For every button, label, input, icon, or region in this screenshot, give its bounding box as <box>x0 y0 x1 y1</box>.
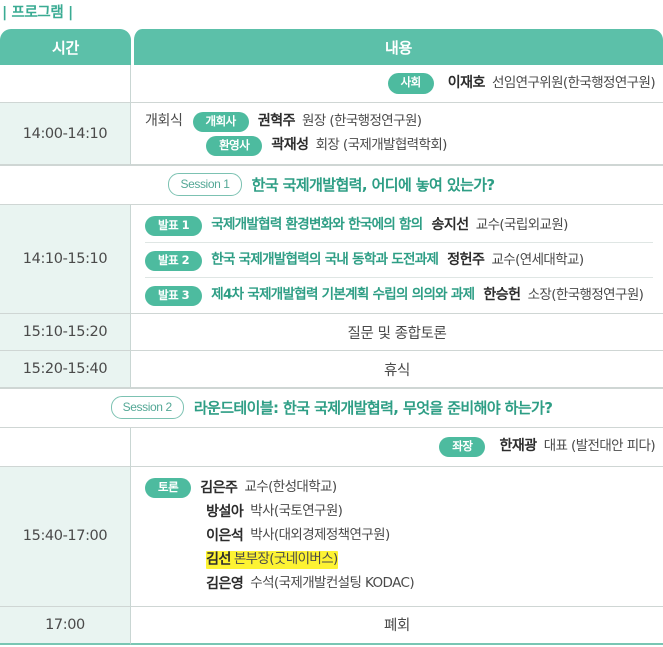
content-cell-moderator: 사회 이재호 선임연구위원(한국행정연구원) <box>131 65 663 103</box>
table-row-moderator: 사회 이재호 선임연구위원(한국행정연구원) <box>0 65 663 103</box>
chair-line: 좌장 한재광 대표 (발전대안 피다) <box>145 435 655 458</box>
discussant-1-name: 김은주 <box>200 480 237 496</box>
discussant-4-name: 김선 <box>206 552 231 568</box>
presentation-item: 발표 1 국제개발협력 환경변화와 한국에의 함의 송지선 교수(국립외교원) <box>145 209 653 243</box>
program-table: 시간 내용 사회 이재호 선임연구위원(한국행정연구원) 14:00-14:10… <box>0 29 663 644</box>
discussant-2-name: 방설아 <box>206 504 243 520</box>
presentation-3-speaker: 한승헌 <box>483 287 520 303</box>
presentation-2-topic: 한국 국제개발협력의 국내 동학과 도전과제 <box>211 252 438 268</box>
discussant-item-highlighted: 김선본부장(굿네이버스) <box>145 549 653 572</box>
moderator-name: 이재호 <box>448 75 485 91</box>
discussant-2-affiliation: 박사(국토연구원) <box>250 503 342 519</box>
presentation-3-topic: 제4차 국제개발협력 기본계획 수립의 의의와 과제 <box>211 287 474 303</box>
content-cell-opening: 개회식 개회사 권혁주 원장 (한국행정연구원) 환영사 곽재성 회장 (국제개… <box>131 103 663 165</box>
presentation-3-affiliation: 소장(한국행정연구원) <box>528 287 644 303</box>
badge-presentation-3: 발표 3 <box>145 286 202 307</box>
closing-label: 폐회 <box>384 618 410 634</box>
session-1-title: 한국 국제개발협력, 어디에 놓여 있는가? <box>252 176 495 194</box>
table-row-closing: 17:00 폐회 <box>0 607 663 645</box>
highlight-mark: 김선본부장(굿네이버스) <box>206 551 338 569</box>
badge-presentation-1: 발표 1 <box>145 216 202 237</box>
opening-speaker-name: 권혁주 <box>258 113 295 129</box>
time-cell: 15:10-15:20 <box>0 314 131 351</box>
discussant-item: 김은영 수석(국제개발컨설팅 KODAC) <box>145 573 653 596</box>
page-title: | 프로그램 | <box>0 0 663 29</box>
break-label: 휴식 <box>384 363 410 379</box>
time-cell: 14:10-15:10 <box>0 205 131 314</box>
opening-line-2: 환영사 곽재성 회장 (국제개발협력학회) <box>145 134 653 157</box>
badge-presentation-2: 발표 2 <box>145 251 202 272</box>
column-header-time: 시간 <box>0 29 131 65</box>
content-cell-discussants: 토론 김은주 교수(한성대학교) 방설아 박사(국토연구원) 이은석 박사(대외… <box>131 467 663 607</box>
welcome-speaker-affiliation: 회장 (국제개발협력학회) <box>316 137 447 153</box>
content-cell-discussion: 질문 및 종합토론 <box>131 314 663 351</box>
time-cell: 15:40-17:00 <box>0 467 131 607</box>
opening-line-1: 개회식 개회사 권혁주 원장 (한국행정연구원) <box>145 110 653 133</box>
discussant-item: 이은석 박사(대외경제정책연구원) <box>145 525 653 548</box>
presentation-2-affiliation: 교수(연세대학교) <box>491 252 583 268</box>
presentation-item: 발표 2 한국 국제개발협력의 국내 동학과 도전과제 정헌주 교수(연세대학교… <box>145 244 653 278</box>
session-1-pill: Session 1 <box>168 173 241 196</box>
badge-chair: 좌장 <box>439 437 485 458</box>
content-cell-closing: 폐회 <box>131 607 663 645</box>
table-row-discussion: 15:10-15:20 질문 및 종합토론 <box>0 314 663 351</box>
table-header-row: 시간 내용 <box>0 29 663 65</box>
time-cell <box>0 65 131 103</box>
discussion-label: 질문 및 종합토론 <box>348 326 447 342</box>
discussant-5-affiliation: 수석(국제개발컨설팅 KODAC) <box>250 575 414 591</box>
table-row-session-2: Session 2 라운드테이블: 한국 국제개발협력, 무엇을 준비해야 하는… <box>0 388 663 428</box>
badge-moderator: 사회 <box>388 73 434 94</box>
welcome-speaker-name: 곽재성 <box>271 137 308 153</box>
table-row-chair: 좌장 한재광 대표 (발전대안 피다) <box>0 428 663 466</box>
discussant-item: 토론 김은주 교수(한성대학교) <box>145 477 653 500</box>
column-header-content: 내용 <box>131 29 663 65</box>
chair-affiliation: 대표 (발전대안 피다) <box>544 438 655 454</box>
time-cell: 17:00 <box>0 607 131 645</box>
discussant-1-affiliation: 교수(한성대학교) <box>244 479 336 495</box>
discussant-3-name: 이은석 <box>206 528 243 544</box>
content-cell-break: 휴식 <box>131 351 663 388</box>
table-row-session-1: Session 1 한국 국제개발협력, 어디에 놓여 있는가? <box>0 165 663 205</box>
time-cell: 14:00-14:10 <box>0 103 131 165</box>
opening-speaker-affiliation: 원장 (한국행정연구원) <box>302 113 421 129</box>
time-cell <box>0 428 131 466</box>
session-2-pill: Session 2 <box>111 396 184 419</box>
moderator-affiliation: 선임연구위원(한국행정연구원) <box>492 75 655 91</box>
badge-welcome-remarks: 환영사 <box>206 136 262 157</box>
table-row-discussants: 15:40-17:00 토론 김은주 교수(한성대학교) 방설아 박사(국토연구… <box>0 467 663 607</box>
presentation-2-speaker: 정헌주 <box>447 252 484 268</box>
table-row-presentations: 14:10-15:10 발표 1 국제개발협력 환경변화와 한국에의 함의 송지… <box>0 205 663 314</box>
badge-discussion: 토론 <box>145 478 191 499</box>
content-cell-presentations: 발표 1 국제개발협력 환경변화와 한국에의 함의 송지선 교수(국립외교원) … <box>131 205 663 314</box>
badge-opening-remarks: 개회사 <box>193 112 249 133</box>
discussant-item: 방설아 박사(국토연구원) <box>145 501 653 524</box>
discussant-4-affiliation: 본부장(굿네이버스) <box>234 551 338 567</box>
table-row-break: 15:20-15:40 휴식 <box>0 351 663 388</box>
content-cell-chair: 좌장 한재광 대표 (발전대안 피다) <box>131 428 663 466</box>
moderator-line: 사회 이재호 선임연구위원(한국행정연구원) <box>145 72 655 95</box>
table-row-opening: 14:00-14:10 개회식 개회사 권혁주 원장 (한국행정연구원) 환영사… <box>0 103 663 165</box>
presentation-1-speaker: 송지선 <box>432 217 469 233</box>
time-cell: 15:20-15:40 <box>0 351 131 388</box>
session-2-cell: Session 2 라운드테이블: 한국 국제개발협력, 무엇을 준비해야 하는… <box>0 388 663 428</box>
presentation-item: 발표 3 제4차 국제개발협력 기본계획 수립의 의의와 과제 한승헌 소장(한… <box>145 279 653 309</box>
presentation-1-topic: 국제개발협력 환경변화와 한국에의 함의 <box>211 217 422 233</box>
session-1-cell: Session 1 한국 국제개발협력, 어디에 놓여 있는가? <box>0 165 663 205</box>
presentation-1-affiliation: 교수(국립외교원) <box>476 217 568 233</box>
discussant-5-name: 김은영 <box>206 576 243 592</box>
session-2-title: 라운드테이블: 한국 국제개발협력, 무엇을 준비해야 하는가? <box>194 399 553 417</box>
opening-label: 개회식 <box>145 113 182 129</box>
discussant-3-affiliation: 박사(대외경제정책연구원) <box>250 527 389 543</box>
chair-name: 한재광 <box>500 438 537 454</box>
